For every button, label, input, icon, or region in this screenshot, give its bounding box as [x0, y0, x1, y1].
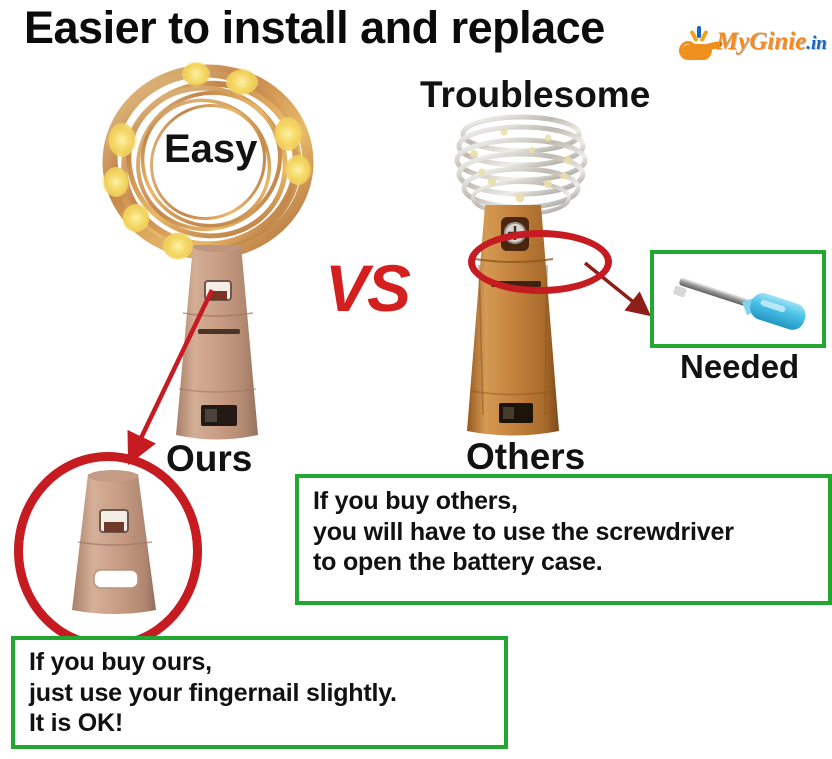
note-ours-line1: If you buy ours,: [29, 647, 504, 678]
label-easy: Easy: [164, 127, 257, 172]
note-others-line1: If you buy others,: [313, 486, 828, 517]
led-coil-silver: [452, 110, 590, 220]
page-title: Easier to install and replace: [24, 2, 605, 54]
product-cork-ours: [163, 245, 271, 443]
highlight-ellipse-others: [468, 230, 612, 294]
note-ours-line3: It is OK!: [29, 708, 504, 739]
vs-label: VS: [325, 250, 409, 326]
watermark-text: MyGinie.in: [716, 28, 827, 56]
note-ours-line2: just use your fingernail slightly.: [29, 678, 504, 709]
label-troublesome: Troublesome: [420, 74, 650, 116]
label-needed: Needed: [680, 348, 799, 386]
note-box-others: If you buy others, you will have to use …: [295, 474, 832, 605]
screwdriver-icon: [668, 270, 816, 334]
note-others-line2: you will have to use the screwdriver: [313, 517, 828, 548]
infographic-canvas: Easier to install and replace MyGinie.in: [0, 0, 832, 759]
note-others-line3: to open the battery case.: [313, 547, 828, 578]
label-others: Others: [466, 436, 585, 478]
watermark-domain: .in: [806, 33, 827, 54]
note-box-ours: If you buy ours, just use your fingernai…: [11, 636, 508, 749]
highlight-circle-ours: [14, 452, 202, 650]
screwdriver-callout-box: [650, 250, 826, 348]
watermark-brand: MyGinie: [716, 28, 806, 55]
watermark-myginie: MyGinie.in: [678, 22, 830, 68]
label-ours: Ours: [166, 438, 252, 480]
